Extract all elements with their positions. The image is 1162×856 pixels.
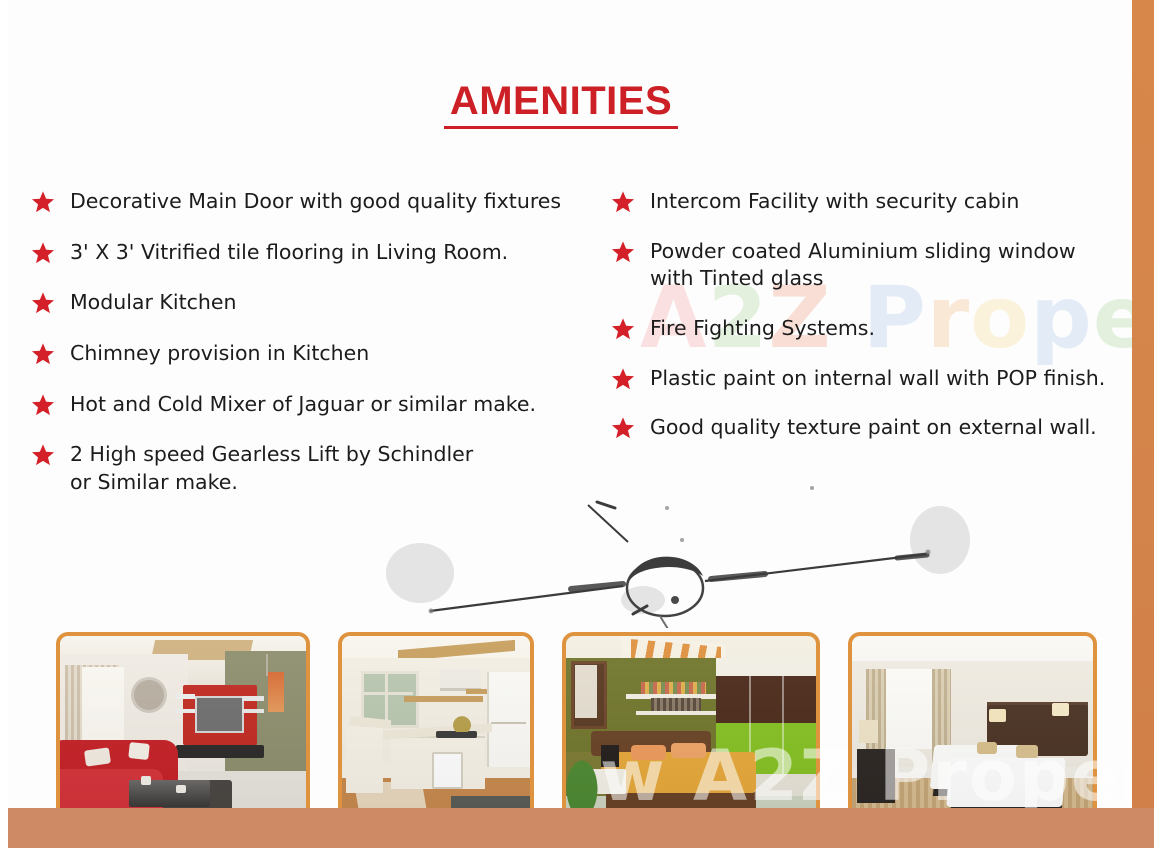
amenity-item: Intercom Facility with security cabin	[610, 188, 1130, 216]
star-icon	[610, 239, 636, 265]
bottom-accent-bar	[8, 808, 1154, 848]
amenity-item: 3' X 3' Vitrified tile flooring in Livin…	[30, 239, 590, 267]
amenity-item: Good quality texture paint on external w…	[610, 414, 1130, 442]
amenity-item: Chimney provision in Kitchen	[30, 340, 590, 368]
amenity-item: 2 High speed Gearless Lift by Schindler …	[30, 441, 590, 496]
amenity-text: Decorative Main Door with good quality f…	[70, 188, 561, 216]
slide: A2Z Proper	[0, 0, 1162, 856]
amenity-text: 2 High speed Gearless Lift by Schindler …	[70, 441, 473, 496]
star-icon	[30, 392, 56, 418]
amenity-item: Powder coated Aluminium sliding window w…	[610, 238, 1130, 293]
star-icon	[610, 316, 636, 342]
amenity-text: Plastic paint on internal wall with POP …	[650, 365, 1105, 393]
photo-strip	[0, 632, 1122, 822]
amenities-column-left: Decorative Main Door with good quality f…	[30, 188, 590, 520]
star-icon	[30, 442, 56, 468]
right-edge-margin	[1154, 0, 1162, 856]
page-title-text: AMENITIES	[444, 80, 678, 129]
kitchen-photo	[338, 632, 534, 822]
amenity-text: Chimney provision in Kitchen	[70, 340, 369, 368]
amenity-text: Fire Fighting Systems.	[650, 315, 875, 343]
bottom-edge-margin	[0, 848, 1162, 856]
star-icon	[610, 415, 636, 441]
left-edge-margin	[0, 0, 8, 856]
amenity-text: Hot and Cold Mixer of Jaguar or similar …	[70, 391, 536, 419]
star-icon	[30, 189, 56, 215]
bedroom-green-photo	[562, 632, 820, 822]
star-icon	[610, 189, 636, 215]
amenity-text: Good quality texture paint on external w…	[650, 414, 1097, 442]
amenity-text: Intercom Facility with security cabin	[650, 188, 1019, 216]
right-accent-bar	[1132, 0, 1154, 828]
amenity-item: Modular Kitchen	[30, 289, 590, 317]
star-icon	[30, 290, 56, 316]
amenity-text: 3' X 3' Vitrified tile flooring in Livin…	[70, 239, 508, 267]
amenity-text: Modular Kitchen	[70, 289, 236, 317]
amenity-item: Plastic paint on internal wall with POP …	[610, 365, 1130, 393]
living-room-photo	[56, 632, 310, 822]
bedroom-hotel-photo	[848, 632, 1097, 822]
amenity-item: Fire Fighting Systems.	[610, 315, 1130, 343]
amenity-item: Decorative Main Door with good quality f…	[30, 188, 590, 216]
star-icon	[30, 240, 56, 266]
star-icon	[610, 366, 636, 392]
star-icon	[30, 341, 56, 367]
amenity-text: Powder coated Aluminium sliding window w…	[650, 238, 1076, 293]
amenity-item: Hot and Cold Mixer of Jaguar or similar …	[30, 391, 590, 419]
page-title: AMENITIES	[0, 80, 1122, 129]
amenities-column-right: Intercom Facility with security cabin Po…	[610, 188, 1130, 464]
